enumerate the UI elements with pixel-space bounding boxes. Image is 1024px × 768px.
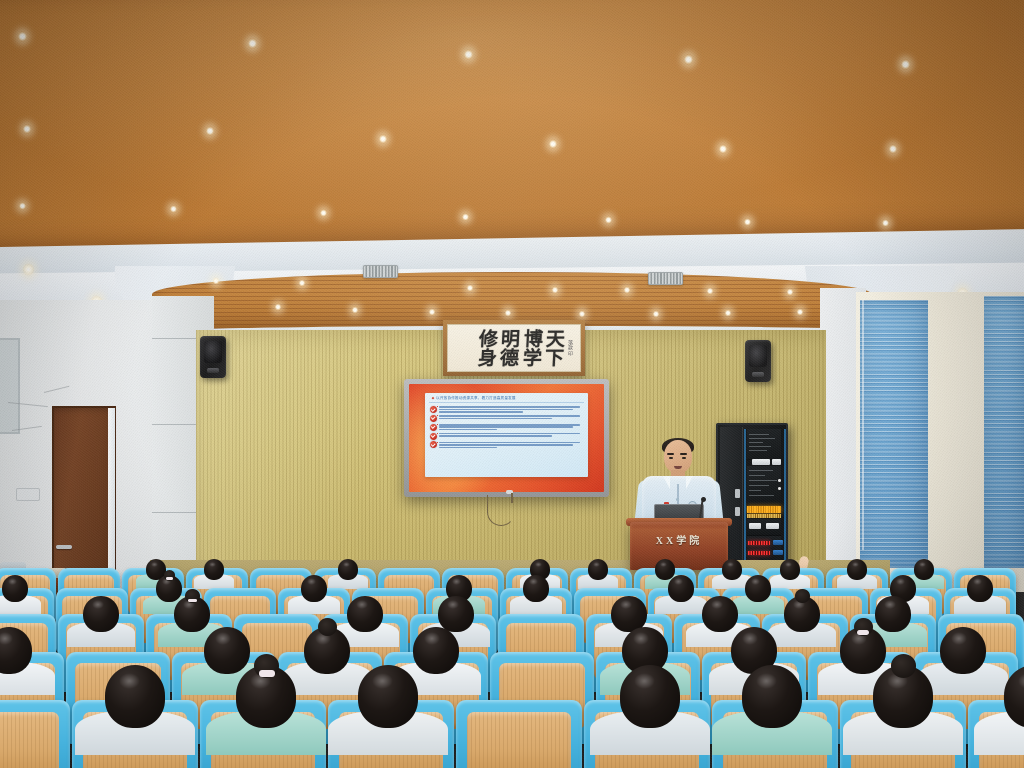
audience-head (702, 596, 737, 632)
slide-bullet-text (439, 406, 585, 413)
projection-screen-frame: ◆以开放协作推动资源共享，着力打造高质量发展 (404, 379, 609, 497)
slide-bullet-text (439, 432, 585, 436)
lecture-hall-photo: 修身 明德 博学 天下 落款 印 ◆以开放协作推动资源共享，着力打造高质量发展 (0, 0, 1024, 768)
hvac-vent (648, 272, 683, 285)
hair-bun (891, 654, 917, 678)
light-switch[interactable] (16, 488, 40, 501)
ceiling-downlight (744, 218, 751, 227)
audience-head (873, 665, 934, 727)
hair-highlight (660, 562, 667, 567)
slide-bullet-text (439, 441, 585, 448)
audience-head (204, 559, 224, 579)
ceiling-downlight (787, 288, 793, 296)
hair-bun (795, 589, 810, 603)
slide-text-line (439, 426, 573, 428)
slide-text-line (439, 406, 580, 408)
audience-head (940, 627, 986, 674)
hair-highlight (852, 562, 859, 567)
hair-bun (318, 618, 337, 636)
ceiling-downlight (206, 126, 214, 136)
slide-bullet-list (429, 406, 585, 449)
ceiling-downlight (719, 144, 727, 154)
rack-display (766, 523, 779, 529)
hair-highlight (785, 562, 792, 567)
rack-led-row (748, 551, 770, 555)
audience-head (338, 559, 358, 579)
audience-head (722, 559, 742, 579)
ceiling-downlight (624, 286, 630, 294)
hair-tie (857, 630, 869, 635)
speaker-cone-icon (204, 341, 222, 363)
hair-tie (166, 577, 173, 580)
hair-tie (188, 599, 197, 603)
rack-level-meter-secondary (747, 514, 781, 518)
ceiling-downlight (549, 139, 557, 149)
hair-highlight (151, 562, 158, 567)
ceiling-downlight (462, 213, 469, 222)
slide-title: ◆以开放协作推动资源共享，着力打造高质量发展 (429, 396, 585, 404)
ceiling-downlight (23, 124, 31, 134)
ceiling-downlight (23, 263, 34, 277)
slide-text-line (439, 444, 573, 446)
audience-head (301, 575, 328, 602)
audience-head (304, 627, 350, 674)
calligraphy-char-1: 修身 (476, 329, 495, 367)
ceiling-downlight (464, 49, 473, 60)
audience-head (347, 596, 382, 632)
rack-level-meter (747, 506, 781, 513)
slide-bullet (430, 406, 585, 413)
ceiling-downlight (552, 286, 558, 294)
audience-head (967, 575, 994, 602)
ceiling-downlight (352, 306, 358, 314)
slide-bullet (430, 423, 585, 430)
ceiling-downlight (19, 202, 26, 211)
wall-speaker-left (200, 336, 226, 378)
hair-highlight (424, 632, 440, 644)
check-icon (430, 424, 437, 431)
hair-highlight (633, 632, 649, 644)
calligraphy-frame: 修身 明德 博学 天下 落款 印 (443, 320, 585, 376)
hair-highlight (727, 562, 734, 567)
hair-highlight (951, 632, 967, 644)
hair-highlight (535, 562, 542, 567)
audience-head (174, 596, 209, 632)
seat-back-pad (0, 712, 59, 768)
audience-head (413, 627, 459, 674)
slide-text-line (439, 442, 580, 444)
presenter-collar-right (686, 476, 693, 489)
audience-head (780, 559, 800, 579)
lectern-label: XX学院 (630, 532, 728, 547)
auditorium-seat[interactable] (0, 700, 70, 768)
door-gap-light (108, 408, 115, 594)
ceiling-downlight (797, 308, 803, 316)
slide-title-text: 以开放协作推动资源共享，着力打造高质量发展 (436, 396, 516, 400)
ceiling-downlight (18, 31, 27, 42)
hvac-vent (363, 265, 398, 278)
hair-highlight (119, 673, 140, 689)
hair-highlight (209, 562, 216, 567)
check-icon (430, 441, 437, 448)
audience-head (438, 596, 473, 632)
presenter-collar-left (663, 476, 670, 489)
ceiling-downlight (170, 205, 177, 214)
ceiling-downlight (248, 38, 257, 49)
presenter-brow (667, 453, 674, 455)
audience-head (784, 596, 819, 632)
rack-latch-upper[interactable] (735, 489, 740, 498)
window-blinds-left[interactable] (860, 300, 928, 568)
ceiling-downlight (889, 144, 897, 154)
audience-head (236, 665, 297, 727)
slide-text-line (439, 447, 497, 449)
ceiling-downlight (320, 209, 327, 218)
calligraphy-char-2: 明德 (498, 329, 517, 367)
hair-highlight (215, 632, 231, 644)
audience-head (156, 575, 183, 602)
ceiling-downlight (901, 59, 910, 70)
audience-head (83, 596, 118, 632)
ceiling-downlight (275, 303, 281, 311)
ceiling-downlight (379, 134, 387, 144)
screen-cable-drop (511, 493, 513, 503)
ceiling-downlight (429, 308, 435, 316)
door-handle[interactable] (56, 545, 72, 549)
speaker-tweeter-icon (207, 368, 219, 373)
ceiling-downlight (213, 277, 219, 285)
hair-highlight (919, 562, 926, 567)
hair-highlight (742, 632, 758, 644)
slide-bullet (430, 415, 585, 422)
projection-screen[interactable]: ◆以开放协作推动资源共享，着力打造高质量发展 (409, 384, 604, 492)
audience-head (588, 559, 608, 579)
ceiling-downlight (725, 309, 731, 317)
ceiling-downlight (605, 216, 612, 225)
slide-bullet-text (439, 415, 585, 419)
auditorium-seat[interactable] (456, 700, 582, 768)
rack-led-row (748, 541, 770, 545)
ceiling-downlight (299, 279, 305, 287)
check-icon (430, 415, 437, 422)
wall-picture-frame (0, 338, 20, 434)
hair-highlight (372, 673, 393, 689)
audience-head (204, 627, 250, 674)
slide-text-line (439, 433, 580, 435)
window-blinds-right[interactable] (984, 296, 1024, 568)
check-icon (430, 406, 437, 413)
hair-highlight (756, 673, 777, 689)
slide-bullet (430, 432, 585, 439)
slide-text-line (439, 418, 553, 420)
slide-text-line (439, 424, 580, 426)
blinds-wand[interactable] (862, 300, 864, 550)
audience-head (742, 665, 803, 727)
calligraphy-paper: 修身 明德 博学 天下 落款 印 (447, 324, 581, 372)
ceiling-wood-panel-upper (0, 0, 1024, 263)
rack-blue-panel (773, 550, 783, 555)
wall-speaker-right (745, 340, 771, 382)
audience-head (358, 665, 419, 727)
hair-highlight (343, 562, 350, 567)
seat-back-pad (467, 712, 570, 768)
presenter-brow (680, 453, 687, 455)
speaker-cone-icon (749, 345, 767, 367)
rack-latch-lower[interactable] (735, 507, 740, 516)
rack-display (749, 523, 761, 529)
calligraphy-char-4: 天下 (543, 329, 562, 367)
ceiling-downlight (684, 54, 693, 65)
microphone-icon (701, 497, 706, 502)
slide-bullet-text (439, 423, 585, 430)
audience-head (620, 665, 681, 727)
ceiling-downlight (653, 310, 659, 318)
ceiling-downlight (505, 309, 511, 317)
rack-panel-light (772, 459, 781, 465)
slide-title-marker: ◆ (432, 396, 435, 400)
ceiling-downlight (707, 287, 713, 295)
hair-highlight (593, 562, 600, 567)
audience-head (875, 596, 910, 632)
ceiling-downlight (882, 219, 889, 228)
slide-text-line (439, 429, 497, 431)
audience-head (840, 627, 886, 674)
ceiling-downlight (467, 284, 473, 292)
ceiling-downlight (579, 310, 585, 318)
slide-text-line (439, 411, 524, 413)
rack-panel-light (752, 459, 770, 465)
hair-highlight (634, 673, 655, 689)
slide-content-panel: ◆以开放协作推动资源共享，着力打造高质量发展 (425, 393, 589, 477)
audience-head (745, 575, 772, 602)
speaker-tweeter-icon (752, 372, 764, 377)
hair-tie (259, 670, 275, 676)
calligraphy-signature: 落款 印 (567, 340, 573, 356)
slide-text-line (439, 415, 580, 417)
audience-head (847, 559, 867, 579)
audience-head (668, 575, 695, 602)
audience-head (2, 575, 29, 602)
calligraphy-char-3: 博学 (521, 329, 540, 367)
audience-head (523, 575, 550, 602)
slide-bullet (430, 441, 585, 448)
rack-blue-panel (773, 540, 783, 545)
check-icon (430, 433, 437, 440)
hair-highlight (0, 632, 13, 644)
audience-head (105, 665, 166, 727)
slide-text-line (439, 435, 553, 437)
slide-text-line (439, 409, 573, 411)
audience-head (655, 559, 675, 579)
audience-head (914, 559, 934, 579)
